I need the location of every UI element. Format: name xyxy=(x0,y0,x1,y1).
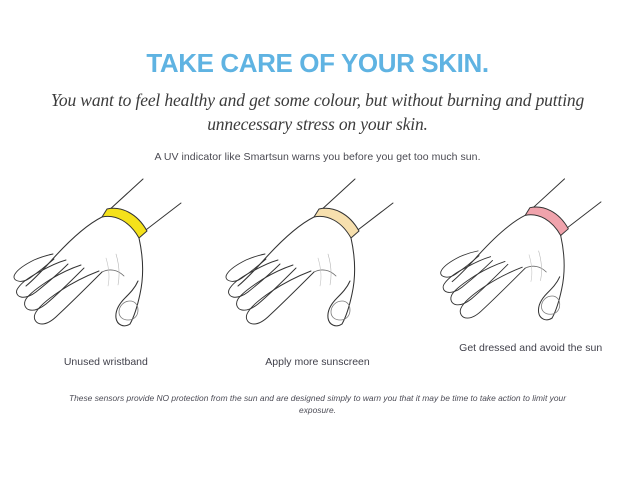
page-title: TAKE CARE OF YOUR SKIN. xyxy=(0,0,635,77)
panel-get-dressed: Get dressed and avoid the sun xyxy=(423,176,635,391)
hand-illustration-3 xyxy=(423,176,635,341)
hand-illustration-2 xyxy=(212,176,424,351)
header: TAKE CARE OF YOUR SKIN. You want to feel… xyxy=(0,0,635,163)
panel-unused-wristband: Unused wristband xyxy=(0,176,212,391)
wristband-panels: Unused wristband xyxy=(0,176,635,391)
panel-caption-2: Apply more sunscreen xyxy=(212,356,424,369)
skin-care-infographic: TAKE CARE OF YOUR SKIN. You want to feel… xyxy=(0,0,635,480)
panel-apply-more-sunscreen: Apply more sunscreen xyxy=(212,176,424,391)
subtitle: You want to feel healthy and get some co… xyxy=(38,77,598,136)
hand-pink-band-icon xyxy=(429,176,629,344)
footnote-disclaimer: These sensors provide NO protection from… xyxy=(50,392,586,416)
lede-text: A UV indicator like Smartsun warns you b… xyxy=(58,137,578,163)
hand-illustration-1 xyxy=(0,176,212,351)
hand-cream-band-icon xyxy=(218,176,418,351)
panel-caption-1: Unused wristband xyxy=(0,356,212,369)
panel-caption-3: Get dressed and avoid the sun xyxy=(453,342,608,355)
hand-yellow-band-icon xyxy=(6,176,206,351)
